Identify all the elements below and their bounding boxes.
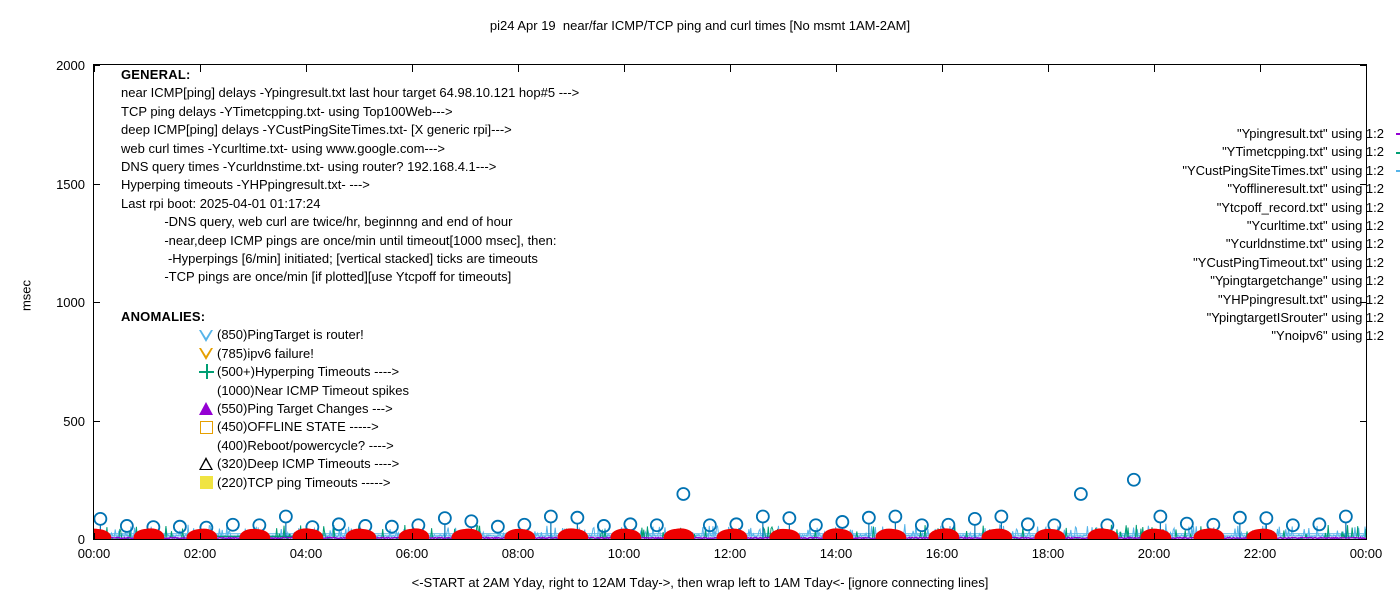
x-tick-label: 12:00	[690, 547, 770, 561]
anomaly-label: (400)Reboot/powercycle? ---->	[217, 437, 394, 455]
x-tick-mark	[942, 65, 943, 72]
x-tick-mark	[306, 65, 307, 72]
x-tick-mark	[518, 65, 519, 72]
x-tick-mark	[94, 533, 95, 540]
legend-label: "Ynoipv6" using 1:2	[1271, 327, 1384, 345]
x-tick-mark	[730, 65, 731, 72]
legend-key-plus-green-icon	[1392, 291, 1400, 309]
legend-row: "YCustPingTimeout.txt" using 1:2	[1094, 254, 1400, 272]
anomaly-triangle-up-open-black-icon	[199, 455, 217, 473]
legend-key-square-open-orange-icon	[1392, 180, 1400, 198]
legend-row: "Ypingresult.txt" using 1:2	[1094, 125, 1400, 143]
legend-label: "YHPpingresult.txt" using 1:2	[1218, 291, 1384, 309]
legend-key-line-green-icon	[1392, 144, 1400, 162]
y-tick-mark	[1360, 184, 1367, 185]
anomaly-row: (320)Deep ICMP Timeouts ---->	[121, 455, 409, 473]
x-tick-mark	[1366, 65, 1367, 72]
general-line: deep ICMP[ping] delays -YCustPingSiteTim…	[121, 121, 579, 139]
anomaly-label: (500+)Hyperping Timeouts ---->	[217, 363, 399, 381]
anomalies-rows: (850)PingTarget is router!(785)ipv6 fail…	[121, 326, 409, 492]
general-lines: near ICMP[ping] delays -Ypingresult.txt …	[121, 84, 579, 286]
x-tick-mark	[200, 65, 201, 72]
general-line: -near,deep ICMP pings are once/min until…	[121, 232, 579, 250]
anomaly-row: (400)Reboot/powercycle? ---->	[121, 437, 409, 455]
anomaly-triangle-up-filled-purple-icon	[199, 400, 217, 418]
y-tick-mark	[93, 302, 100, 303]
anomaly-plus-green-icon	[199, 363, 217, 381]
x-tick-mark	[942, 533, 943, 540]
anomalies-header: ANOMALIES:	[121, 308, 409, 326]
legend-key-triangle-up-open-black-icon	[1392, 254, 1400, 272]
anomaly-label: (1000)Near ICMP Timeout spikes	[217, 382, 409, 400]
anomaly-triangle-down-open-blue-icon	[199, 327, 217, 345]
y-tick-mark	[93, 421, 100, 422]
anomaly-label: (320)Deep ICMP Timeouts ---->	[217, 455, 399, 473]
anomaly-no-icon	[199, 437, 217, 455]
legend-label: "YpingtargetISrouter" using 1:2	[1207, 309, 1384, 327]
legend-key-circle-open-blue-icon	[1392, 217, 1400, 235]
anomaly-row: (785)ipv6 failure!	[121, 345, 409, 363]
general-header: GENERAL:	[121, 66, 579, 84]
x-tick-label: 00:00	[54, 547, 134, 561]
x-axis-label: <-START at 2AM Yday, right to 12AM Tday-…	[0, 575, 1400, 590]
legend-key-triangle-up-filled-purple-icon	[1392, 272, 1400, 290]
x-tick-mark	[1048, 533, 1049, 540]
anomaly-label: (450)OFFLINE STATE ----->	[217, 418, 379, 436]
x-axis-tick-labels: 00:0002:0004:0006:0008:0010:0012:0014:00…	[0, 547, 1400, 567]
legend-label: "YCustPingSiteTimes.txt" using 1:2	[1182, 162, 1384, 180]
y-axis-label: msec	[19, 256, 34, 336]
legend-row: "YHPpingresult.txt" using 1:2	[1094, 291, 1400, 309]
x-tick-mark	[836, 533, 837, 540]
anomaly-square-filled-yellow-icon	[199, 474, 217, 492]
x-tick-mark	[730, 533, 731, 540]
x-tick-label: 00:00	[1326, 547, 1400, 561]
x-tick-mark	[836, 65, 837, 72]
x-tick-mark	[624, 533, 625, 540]
anomaly-label: (550)Ping Target Changes --->	[217, 400, 393, 418]
y-tick-label: 1500	[19, 178, 85, 191]
legend-label: "Ycurltime.txt" using 1:2	[1247, 217, 1384, 235]
x-tick-mark	[518, 533, 519, 540]
y-tick-mark	[93, 184, 100, 185]
x-tick-label: 22:00	[1220, 547, 1300, 561]
anomaly-row: (1000)Near ICMP Timeout spikes	[121, 382, 409, 400]
x-tick-mark	[1048, 65, 1049, 72]
x-tick-label: 08:00	[478, 547, 558, 561]
x-tick-mark	[1154, 65, 1155, 72]
y-tick-mark	[1360, 302, 1367, 303]
anomaly-label: (220)TCP ping Timeouts ----->	[217, 474, 391, 492]
x-tick-label: 14:00	[796, 547, 876, 561]
anomaly-row: (550)Ping Target Changes --->	[121, 400, 409, 418]
x-tick-mark	[412, 65, 413, 72]
legend-key-line-purple-icon	[1392, 125, 1400, 143]
legend-row: "YpingtargetISrouter" using 1:2	[1094, 309, 1400, 327]
legend-key-triangle-down-open-blue-icon	[1392, 309, 1400, 327]
general-line: -TCP pings are once/min [if plotted][use…	[121, 268, 579, 286]
legend-key-line-lightblue-icon	[1392, 162, 1400, 180]
x-tick-mark	[1260, 65, 1261, 72]
x-tick-mark	[1260, 533, 1261, 540]
x-tick-mark	[306, 533, 307, 540]
x-tick-mark	[1366, 533, 1367, 540]
x-tick-label: 18:00	[1008, 547, 1088, 561]
general-line: -Hyperpings [6/min] initiated; [vertical…	[121, 250, 579, 268]
x-tick-mark	[1154, 533, 1155, 540]
chart-title: pi24 Apr 19 near/far ICMP/TCP ping and c…	[0, 18, 1400, 33]
x-tick-mark	[200, 533, 201, 540]
legend-row: "Ypingtargetchange" using 1:2	[1094, 272, 1400, 290]
legend-row: "Ycurldnstime.txt" using 1:2	[1094, 235, 1400, 253]
legend-key-circle-filled-red-icon	[1392, 236, 1400, 254]
x-tick-label: 04:00	[266, 547, 346, 561]
general-line: -DNS query, web curl are twice/hr, begin…	[121, 213, 579, 231]
x-tick-label: 10:00	[584, 547, 664, 561]
x-tick-label: 02:00	[160, 547, 240, 561]
legend-label: "YTimetcpping.txt" using 1:2	[1222, 143, 1384, 161]
y-tick-label: 2000	[19, 59, 85, 72]
anomaly-label: (785)ipv6 failure!	[217, 345, 314, 363]
x-tick-mark	[412, 533, 413, 540]
legend-row: "Ycurltime.txt" using 1:2	[1094, 217, 1400, 235]
general-line: web curl times -Ycurltime.txt- using www…	[121, 140, 579, 158]
legend-label: "Ypingresult.txt" using 1:2	[1237, 125, 1384, 143]
legend-row: "YCustPingSiteTimes.txt" using 1:2	[1094, 162, 1400, 180]
x-tick-mark	[624, 65, 625, 72]
chart-legend: "Ypingresult.txt" using 1:2"YTimetcpping…	[1094, 125, 1400, 346]
legend-label: "Ytcpoff_record.txt" using 1:2	[1217, 199, 1384, 217]
anomaly-triangle-down-open-orange-icon	[199, 345, 217, 363]
general-line: TCP ping delays -YTimetcpping.txt- using…	[121, 103, 579, 121]
legend-label: "Ypingtargetchange" using 1:2	[1210, 272, 1384, 290]
anomaly-label: (850)PingTarget is router!	[217, 326, 364, 344]
legend-label: "Ycurldnstime.txt" using 1:2	[1226, 235, 1384, 253]
chart-page: pi24 Apr 19 near/far ICMP/TCP ping and c…	[0, 0, 1400, 600]
general-annotation-block: GENERAL: near ICMP[ping] delays -Ypingre…	[121, 66, 579, 287]
anomaly-no-icon	[199, 382, 217, 400]
plot-area: GENERAL: near ICMP[ping] delays -Ypingre…	[93, 64, 1367, 540]
legend-row: "Ytcpoff_record.txt" using 1:2	[1094, 199, 1400, 217]
y-tick-label: 0	[19, 533, 85, 546]
x-tick-label: 06:00	[372, 547, 452, 561]
general-line: Hyperping timeouts -YHPpingresult.txt- -…	[121, 176, 579, 194]
anomaly-square-open-orange-icon	[199, 419, 217, 437]
anomaly-row: (850)PingTarget is router!	[121, 326, 409, 344]
anomalies-annotation-block: ANOMALIES: (850)PingTarget is router!(78…	[121, 308, 409, 492]
general-line: near ICMP[ping] delays -Ypingresult.txt …	[121, 84, 579, 102]
x-tick-mark	[94, 65, 95, 72]
legend-row: "YTimetcpping.txt" using 1:2	[1094, 143, 1400, 161]
x-tick-label: 16:00	[902, 547, 982, 561]
legend-key-triangle-down-open-orange-icon	[1392, 327, 1400, 345]
y-tick-mark	[1360, 421, 1367, 422]
anomaly-row: (500+)Hyperping Timeouts ---->	[121, 363, 409, 381]
anomaly-row: (220)TCP ping Timeouts ----->	[121, 474, 409, 492]
legend-row: "Yofflineresult.txt" using 1:2	[1094, 180, 1400, 198]
legend-label: "YCustPingTimeout.txt" using 1:2	[1193, 254, 1384, 272]
general-line: Last rpi boot: 2025-04-01 01:17:24	[121, 195, 579, 213]
legend-row: "Ynoipv6" using 1:2	[1094, 327, 1400, 345]
y-tick-label: 500	[19, 415, 85, 428]
anomaly-row: (450)OFFLINE STATE ----->	[121, 418, 409, 436]
legend-key-square-filled-yellow-icon	[1392, 199, 1400, 217]
general-line: DNS query times -Ycurldnstime.txt- using…	[121, 158, 579, 176]
x-tick-label: 20:00	[1114, 547, 1194, 561]
